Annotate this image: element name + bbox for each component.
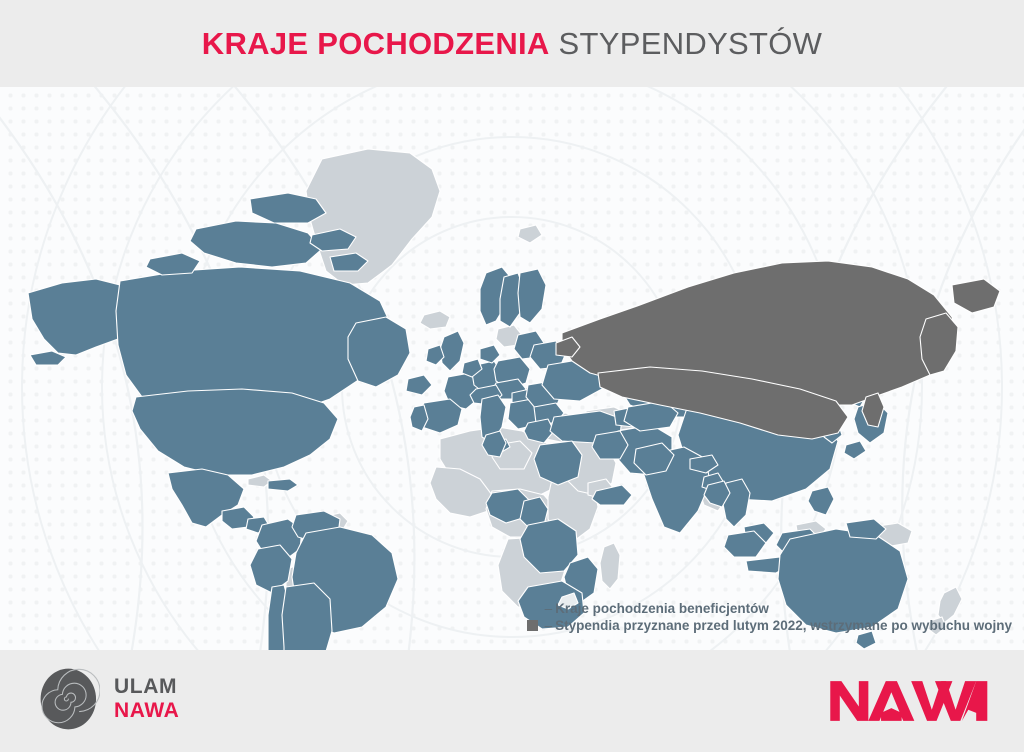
ulam-line-2: NAWA [114,699,179,723]
legend-item-suspended: – Stypendia przyznane przed lutym 2022, … [527,619,1012,633]
legend-item-beneficiaries: – Kraje pochodzenia beneficjentów [527,602,769,616]
title-rest: STYPENDYSTÓW [559,26,823,61]
footer-band: ULAM NAWA [0,650,1024,752]
legend-swatch-suspended [527,620,538,631]
infographic-poster: KRAJE POCHODZENIA STYPENDYSTÓW [0,0,1024,752]
map-legend: – Kraje pochodzenia beneficjentów – Styp… [527,602,1012,632]
nawa-logo [824,678,992,724]
ulam-spiral-icon [34,666,100,732]
ulam-wordmark: ULAM NAWA [114,675,179,722]
legend-label-suspended: Stypendia przyznane przed lutym 2022, ws… [555,619,1012,633]
world-map [0,87,1024,650]
legend-dash: – [545,619,553,633]
header-band: KRAJE POCHODZENIA STYPENDYSTÓW [0,0,1024,87]
page-title: KRAJE POCHODZENIA STYPENDYSTÓW [202,28,822,59]
ulam-line-1: ULAM [114,675,179,699]
title-highlight: KRAJE POCHODZENIA [202,26,550,61]
legend-dash: – [545,602,553,616]
ulam-nawa-logo: ULAM NAWA [34,666,179,732]
legend-label-beneficiaries: Kraje pochodzenia beneficjentów [555,602,769,616]
legend-swatch-beneficiaries [527,603,538,614]
map-stage: – Kraje pochodzenia beneficjentów – Styp… [0,87,1024,650]
